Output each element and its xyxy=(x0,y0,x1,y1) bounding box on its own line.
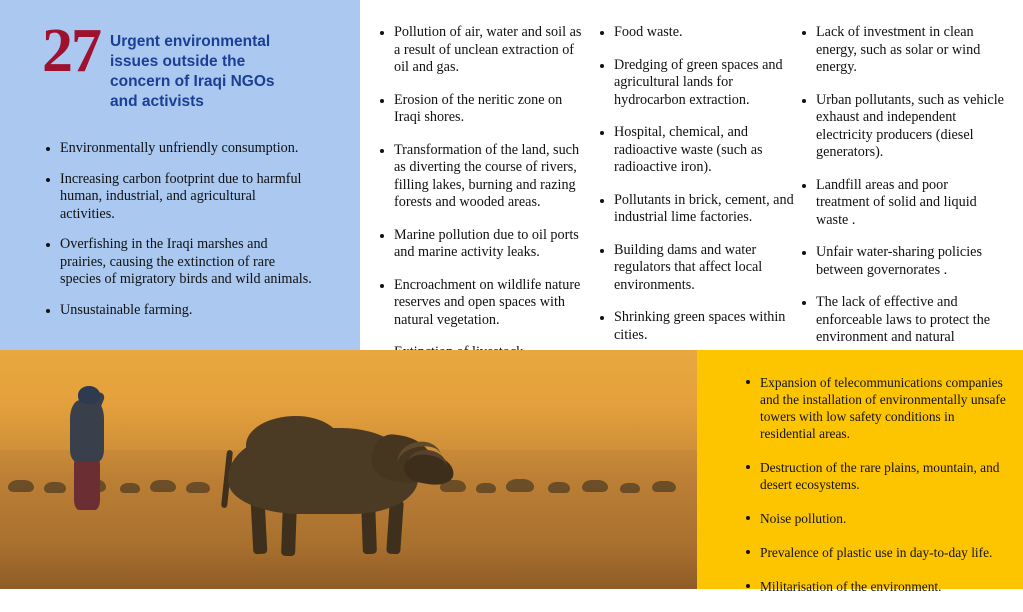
infographic-page: 27 Urgent environmental issues outside t… xyxy=(0,0,1023,589)
headline: 27 Urgent environmental issues outside t… xyxy=(42,26,342,112)
list-item: Pollution of air, water and soil as a re… xyxy=(378,24,588,77)
list-item: Expansion of telecommunications companie… xyxy=(744,374,1006,442)
list-item: Urban pollutants, such as vehicle exhaus… xyxy=(800,92,1005,162)
list-item: Increasing carbon footprint due to harmf… xyxy=(44,171,314,224)
list-item: Unsustainable farming. xyxy=(44,302,314,320)
list-item: Overfishing in the Iraqi marshes and pra… xyxy=(44,236,314,289)
list-item: Food waste. xyxy=(598,24,803,42)
issue-column-5: Expansion of telecommunications companie… xyxy=(744,374,1006,612)
issue-column-4: Lack of investment in clean energy, such… xyxy=(800,24,1005,379)
list-item: Transformation of the land, such as dive… xyxy=(378,142,588,212)
list-item: Prevalence of plastic use in day-to-day … xyxy=(744,544,1006,561)
list-item: Marine pollution due to oil ports and ma… xyxy=(378,227,588,262)
herder-head xyxy=(78,386,100,404)
page-title: Urgent environmental issues outside the … xyxy=(110,26,300,112)
list-item: Militarisation of the environment. xyxy=(744,578,1006,595)
issue-list-4: Lack of investment in clean energy, such… xyxy=(800,24,1005,364)
issue-list-1: Environmentally unfriendly consumption. … xyxy=(44,140,314,319)
list-item: Erosion of the neritic zone on Iraqi sho… xyxy=(378,92,588,127)
bottom-section: Expansion of telecommunications companie… xyxy=(0,350,1023,589)
issue-list-5: Expansion of telecommunications companie… xyxy=(744,374,1006,595)
issue-list-3: Food waste. Dredging of green spaces and… xyxy=(598,24,803,377)
list-item: Hospital, chemical, and radioactive wast… xyxy=(598,124,803,177)
issue-list-2: Pollution of air, water and soil as a re… xyxy=(378,24,588,362)
list-item: Lack of investment in clean energy, such… xyxy=(800,24,1005,77)
top-section: 27 Urgent environmental issues outside t… xyxy=(0,0,1023,350)
headline-number: 27 xyxy=(42,24,100,78)
list-item: Pollutants in brick, cement, and industr… xyxy=(598,192,803,227)
list-item: Landfill areas and poor treatment of sol… xyxy=(800,177,1005,230)
list-item: Encroachment on wildlife nature reserves… xyxy=(378,277,588,330)
list-item: Building dams and water regulators that … xyxy=(598,242,803,295)
list-item: Destruction of the rare plains, mountain… xyxy=(744,459,1006,493)
list-item: Dredging of green spaces and agricultura… xyxy=(598,57,803,110)
list-item: Environmentally unfriendly consumption. xyxy=(44,140,314,158)
list-item: Noise pollution. xyxy=(744,510,1006,527)
herder-legs xyxy=(74,458,100,510)
list-item: Unfair water-sharing policies between go… xyxy=(800,244,1005,279)
issue-column-1: Environmentally unfriendly consumption. … xyxy=(44,140,314,332)
issue-column-2: Pollution of air, water and soil as a re… xyxy=(378,24,588,377)
buffalo-photo xyxy=(0,350,697,589)
issue-column-3: Food waste. Dredging of green spaces and… xyxy=(598,24,803,392)
list-item: Shrinking green spaces within cities. xyxy=(598,309,803,344)
